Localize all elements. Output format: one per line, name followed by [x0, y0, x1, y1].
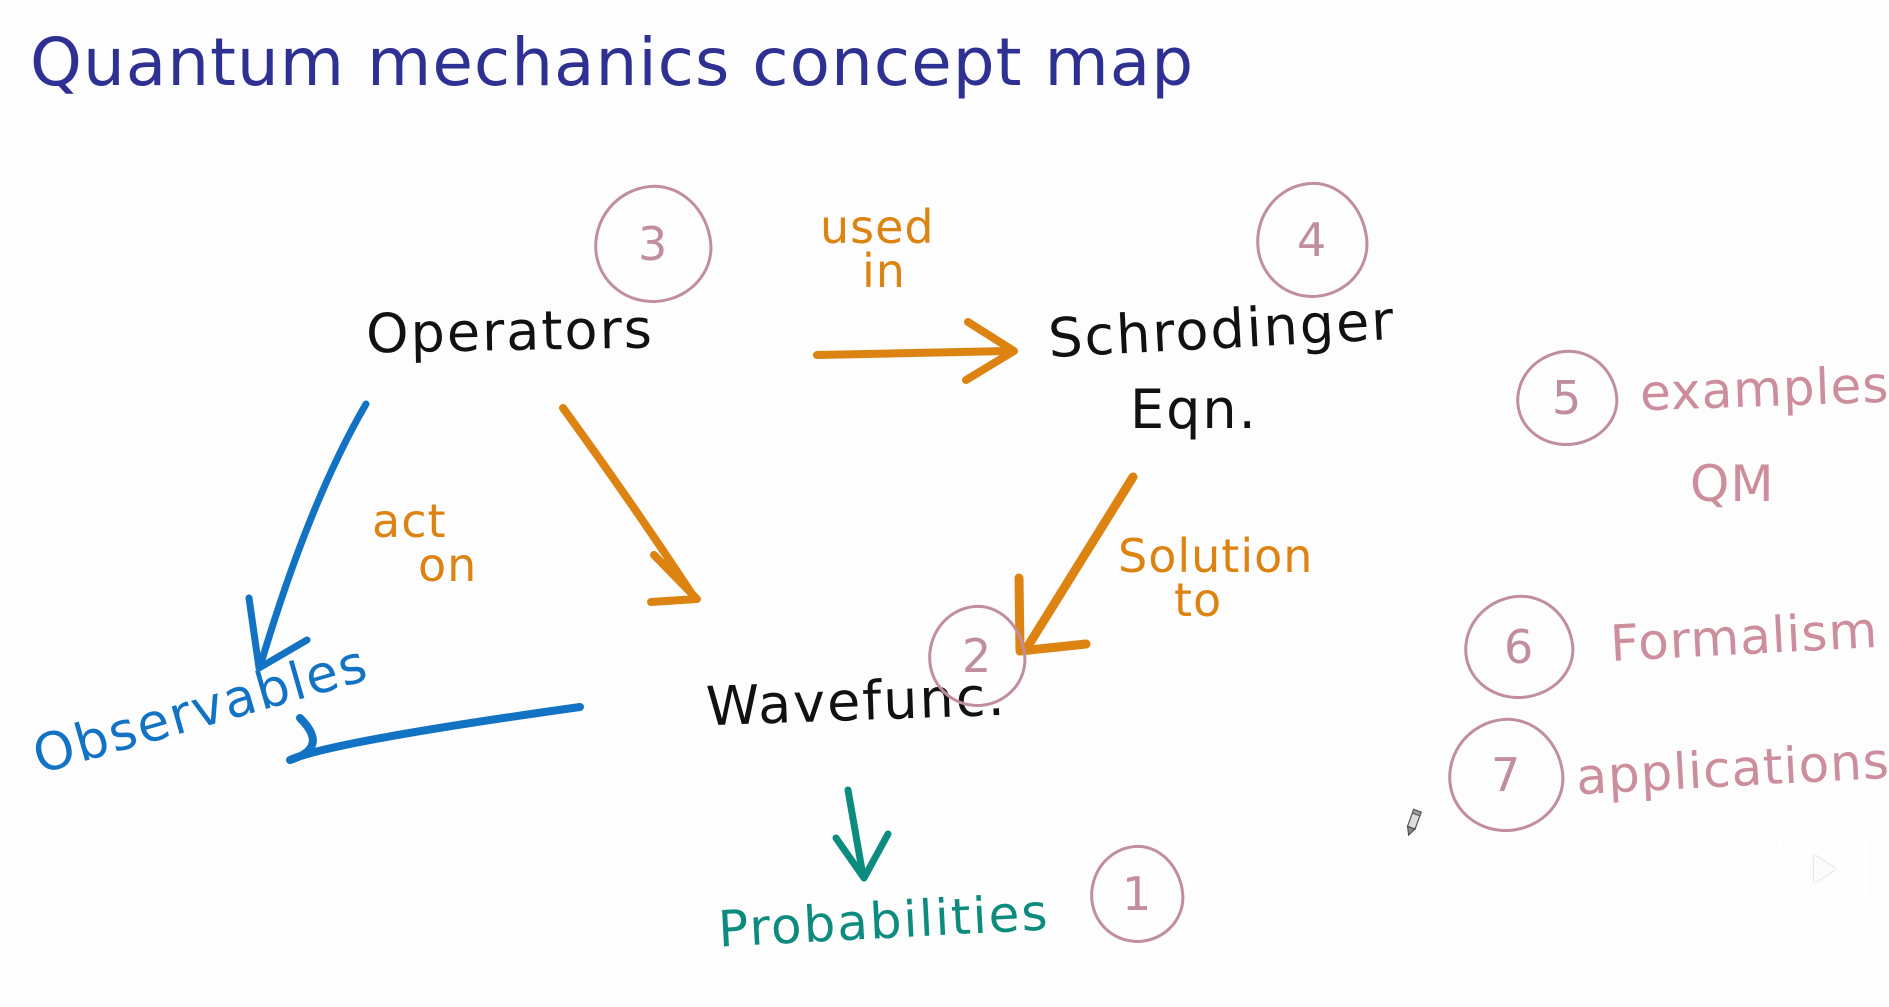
list-item-examples-qm: QM — [1690, 455, 1775, 513]
play-button[interactable] — [1777, 833, 1867, 905]
arrow-used-in — [817, 322, 1014, 380]
edge-label-solution-to-line2: to — [1174, 579, 1313, 623]
arrow-act-on — [563, 408, 697, 602]
page-title: Quantum mechanics concept map — [30, 24, 1194, 101]
list-item-examples: examples — [1639, 356, 1889, 423]
node-schrodinger: Schrodinger — [1047, 289, 1397, 370]
badge-operators: 3 — [588, 179, 718, 309]
pencil-cursor — [1400, 808, 1426, 838]
whiteboard-canvas: Quantum mechanics concept map — [0, 0, 1889, 1007]
arrow-probabilities — [836, 790, 888, 878]
edge-label-used-in-line2: in — [862, 250, 935, 294]
arrow-solution-to — [1019, 477, 1133, 651]
node-schrodinger-line2: Eqn. — [1130, 378, 1258, 441]
badge-formalism: 6 — [1459, 590, 1579, 705]
node-observables: Observables — [26, 634, 375, 787]
badge-examples: 5 — [1511, 345, 1622, 451]
list-item-applications: applications — [1575, 732, 1889, 806]
play-triangle-icon — [1814, 855, 1836, 883]
edge-label-act-on: act on — [372, 500, 477, 587]
edge-label-solution-to: Solution to — [1118, 535, 1313, 622]
badge-applications: 7 — [1442, 712, 1569, 838]
node-operators: Operators — [365, 297, 654, 365]
arrow-layer — [0, 0, 1889, 1007]
badge-schrodinger: 4 — [1250, 176, 1374, 303]
edge-label-act-on-line2: on — [418, 544, 477, 588]
list-item-formalism: Formalism — [1609, 601, 1880, 673]
edge-label-used-in: used in — [820, 206, 935, 293]
badge-probabilities: 1 — [1085, 840, 1189, 947]
node-probabilities: Probabilities — [717, 883, 1051, 958]
